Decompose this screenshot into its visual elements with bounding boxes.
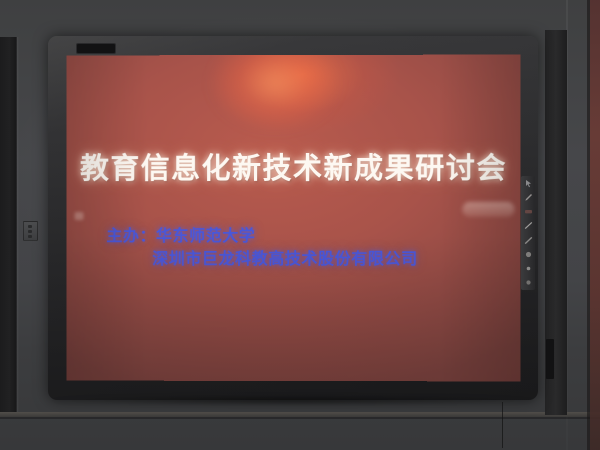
select-icon[interactable] <box>524 179 533 188</box>
whiteboard-side-toolbar[interactable] <box>521 176 535 290</box>
slide-subtitle-line-2: 深圳市巨龙科教高技术股份有限公司 <box>106 247 506 270</box>
switch-toggle-mid[interactable] <box>28 230 32 233</box>
line-icon[interactable] <box>524 221 533 230</box>
screen-vignette <box>67 55 521 382</box>
wall-speaker-panel-highlight <box>16 37 19 412</box>
shape-icon[interactable] <box>524 250 533 259</box>
sensor-label <box>76 43 116 54</box>
slide-subtitle-block: 主办：华东师范大学 深圳市巨龙科教高技术股份有限公司 <box>106 224 506 271</box>
lit-wall-strip <box>590 0 600 450</box>
wall-trim-shadow <box>0 417 600 419</box>
switch-toggle-bottom[interactable] <box>28 235 32 238</box>
wall-speaker-panel <box>0 37 17 412</box>
color-icon[interactable] <box>524 264 533 273</box>
more-tools-icon[interactable] <box>524 278 533 287</box>
projection-screen[interactable]: 教育信息化新技术新成果研讨会 主办：华东师范大学 深圳市巨龙科教高技术股份有限公… <box>67 55 521 382</box>
slide-title: 教育信息化新技术新成果研讨会 <box>67 145 521 187</box>
switch-toggle-top[interactable] <box>28 225 32 228</box>
pen-icon[interactable] <box>524 193 533 202</box>
whiteboard-drop-shadow <box>52 396 534 405</box>
screen-glare <box>462 202 514 217</box>
light-switch-plate[interactable] <box>23 221 38 241</box>
highlighter-icon[interactable] <box>524 236 533 245</box>
power-cable <box>502 402 503 448</box>
screenshot-root: 教育信息化新技术新成果研讨会 主办：华东师范大学 深圳市巨龙科教高技术股份有限公… <box>0 0 600 450</box>
slide-subtitle-line-1: 主办：华东师范大学 <box>106 224 506 247</box>
screen-dot <box>75 212 84 220</box>
eraser-icon[interactable] <box>524 207 533 216</box>
wall-column-notch <box>546 339 554 379</box>
projector-lamp-hotspot <box>210 55 340 132</box>
